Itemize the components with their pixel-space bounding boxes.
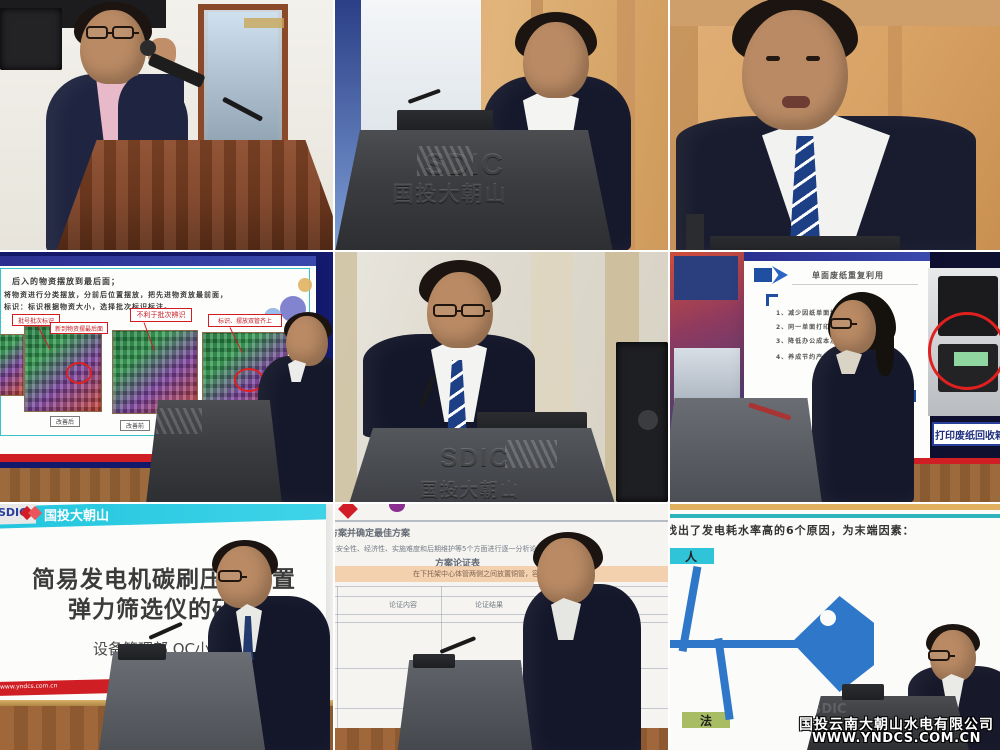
glasses-icon — [112, 26, 134, 39]
podium — [670, 398, 822, 502]
head — [742, 10, 848, 130]
slide-callout-text: 打印废纸回收箱 — [935, 427, 1000, 442]
slide-top-teal — [670, 514, 1000, 518]
podium-logo-sdic: SDIC — [812, 702, 847, 717]
slide-logo-mark — [754, 268, 772, 282]
laptop-screen — [842, 684, 884, 700]
photo-caption: 改善后 — [50, 416, 80, 427]
presenter-suit — [523, 584, 641, 750]
slide-heading: 单面废纸重复利用 — [812, 270, 884, 281]
table-rule — [337, 586, 338, 746]
podium-emblem — [417, 146, 473, 176]
speaker-cone — [638, 410, 658, 430]
table-col-header: 论证内容 — [389, 600, 417, 610]
slide-logo-mark — [389, 504, 405, 512]
fishbone-spine — [670, 640, 802, 648]
collage-cell-1 — [0, 0, 333, 250]
table-col-header: 论证结果 — [475, 600, 503, 610]
podium-logo-cn: 国投大朝山 — [375, 476, 565, 502]
slide-footer-url: www.yndcs.com.cn — [0, 682, 57, 690]
podium-logo-cn — [106, 658, 146, 718]
glasses-icon — [830, 318, 852, 329]
mic-stand — [686, 214, 704, 250]
presenter-suit — [812, 344, 914, 502]
collage-cell-2: SDIC 国投大朝山 — [335, 0, 668, 250]
collage-cell-7: SDIC 国投大朝山 简易发电机碳刷压紧装置 弹力筛选仪的研制 设备管理部 QC… — [0, 504, 333, 750]
podium — [397, 660, 533, 750]
presenter-head — [537, 538, 595, 604]
fishbone-eye — [820, 610, 836, 626]
annotation-tag: 标识、摆放双管齐上 — [208, 314, 282, 327]
fishbone-label-fa: 法 — [682, 712, 730, 728]
collage-cell-9: 找出了发电耗水率高的6个原因，为末端因素： 人 法 SDIC — [670, 504, 1000, 750]
slide-top-band — [0, 256, 316, 266]
slide-logo-arrow — [772, 266, 788, 284]
slide-top-band — [744, 252, 930, 261]
annotation-tag: 不利于批次辨识 — [130, 308, 192, 322]
doorway-glass — [208, 12, 278, 140]
podium-emblem — [505, 440, 557, 468]
ponytail — [876, 316, 894, 376]
podium-wood-grain — [56, 140, 333, 250]
fishbone-mouth-line — [790, 640, 864, 648]
door-light — [244, 18, 284, 28]
laptop-screen — [710, 236, 900, 250]
glasses-icon — [433, 304, 457, 317]
slide-divider — [335, 520, 668, 522]
collage-cell-6: 单面废纸重复利用 1、减少因纸单面打印废纸量； 2、同一单面打印废纸重复使用； … — [670, 252, 1000, 502]
fishbone-label-ren: 人 — [670, 548, 714, 564]
slide-subheading: 将物资进行分类摆放，分前后位置摆放，把先进物资放最前面， — [4, 290, 228, 300]
podium-logo-cn: 国投大朝山 — [335, 178, 565, 208]
slide-corner-mark — [766, 294, 778, 306]
slide-heading: 方案并确定最佳方案 — [335, 526, 410, 539]
secondary-screen-inset — [674, 256, 738, 300]
collage-cell-5: SDIC 国投大朝山 — [335, 252, 668, 502]
presenter-head — [286, 316, 328, 366]
slide-callout-box: 打印废纸回收箱 — [932, 422, 1000, 446]
photo-caption: 改善前 — [120, 420, 150, 431]
mini-photo — [0, 334, 24, 396]
slide-top-gold — [670, 504, 1000, 510]
collage-cell-8: 方案并确定最佳方案 从安全性、经济性、实施难度和后期维护等5个方面进行逐一分析论… — [335, 504, 668, 750]
glasses-icon — [928, 650, 950, 661]
glasses-icon — [218, 570, 242, 582]
highlight-circle — [928, 312, 1000, 390]
laptop-screen — [397, 110, 493, 132]
decor-circle — [298, 278, 312, 292]
slide-heading: 后入的物资摆放到最后面； — [12, 276, 120, 287]
watermark-url: WWW.YNDCS.COM.CN — [799, 732, 994, 746]
highlight-circle — [66, 362, 92, 384]
speaker-box-icon — [0, 8, 62, 70]
presenter-head — [523, 22, 589, 98]
glasses-icon — [461, 304, 485, 317]
podium-emblem — [156, 408, 202, 434]
speaker-head — [80, 10, 146, 84]
photo-collage: SDIC 国投大朝山 后入的物资摆放到最后面； 将物资进行分类摆放，分前后位 — [0, 0, 1000, 750]
eye-right — [806, 56, 820, 61]
slide-divider — [792, 284, 918, 285]
watermark: 国投云南大朝山水电有限公司 WWW.YNDCS.COM.CN — [799, 718, 994, 746]
slide-brand-cn: 国投大朝山 — [44, 505, 109, 524]
eye-left — [766, 56, 780, 61]
glasses-icon — [86, 26, 108, 39]
sdic-diamond-icon — [338, 504, 358, 519]
collage-cell-4: 后入的物资摆放到最后面； 将物资进行分类摆放，分前后位置摆放，把先进物资放最前面… — [0, 252, 333, 502]
collage-cell-3 — [670, 0, 1000, 250]
annotation-tag: 新到物资摆最后面 — [50, 322, 108, 334]
slide-heading: 找出了发电耗水率高的6个原因，为末端因素： — [670, 522, 915, 538]
wall-stripe — [335, 252, 357, 502]
laptop-screen — [413, 654, 455, 668]
mouth — [782, 96, 810, 108]
watermark-company: 国投云南大朝山水电有限公司 — [799, 718, 994, 733]
table-rule — [335, 586, 668, 587]
